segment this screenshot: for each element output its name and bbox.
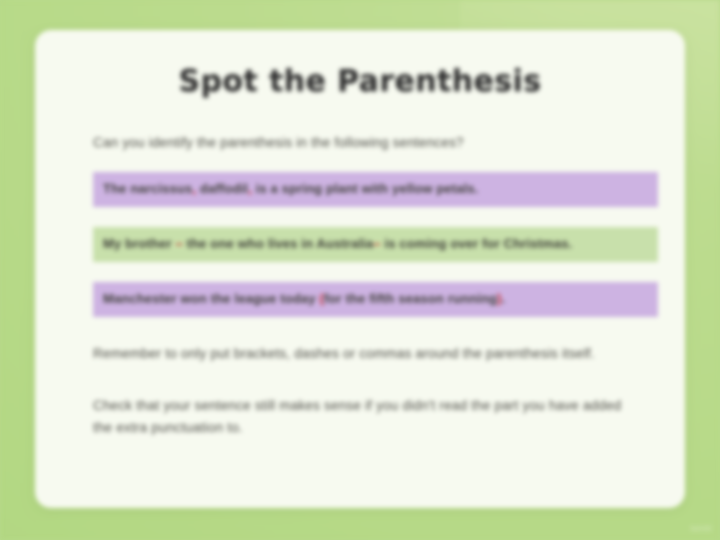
sentence-band-1: The narcissus, daffodil, is a spring pla…	[93, 172, 658, 207]
sentence-2-post: is coming over for Christmas.	[381, 236, 573, 251]
content-card: Spot the Parenthesis Can you identify th…	[35, 30, 685, 508]
watermark-label: twinkl	[690, 524, 712, 533]
sentence-1-pre: The narcissus	[103, 181, 192, 196]
sentence-3-post: .	[502, 291, 506, 306]
sentence-band-2: My brother – the one who lives in Austra…	[93, 227, 658, 262]
sentence-3-parenthesis: for the fifth season running	[324, 291, 497, 306]
sentence-2-open-mark: –	[175, 236, 182, 251]
slide-canvas: Spot the Parenthesis Can you identify th…	[0, 0, 720, 540]
sentence-2-parenthesis: the one who lives in Australia	[183, 236, 374, 251]
instruction-note-1: Remember to only put brackets, dashes or…	[93, 343, 638, 365]
sentence-2-pre: My brother	[103, 236, 175, 251]
sentence-1-parenthesis: daffodil	[196, 181, 248, 196]
sentence-1-post: is a spring plant with yellow petals.	[252, 181, 479, 196]
prompt-text: Can you identify the parenthesis in the …	[93, 135, 655, 150]
sentence-2-close-mark: –	[373, 236, 380, 251]
instruction-note-2: Check that your sentence still makes sen…	[93, 395, 638, 438]
page-title: Spot the Parenthesis	[65, 64, 655, 99]
sentence-band-3: Manchester won the league today (for the…	[93, 282, 658, 317]
sentence-3-pre: Manchester won the league today	[103, 291, 319, 306]
